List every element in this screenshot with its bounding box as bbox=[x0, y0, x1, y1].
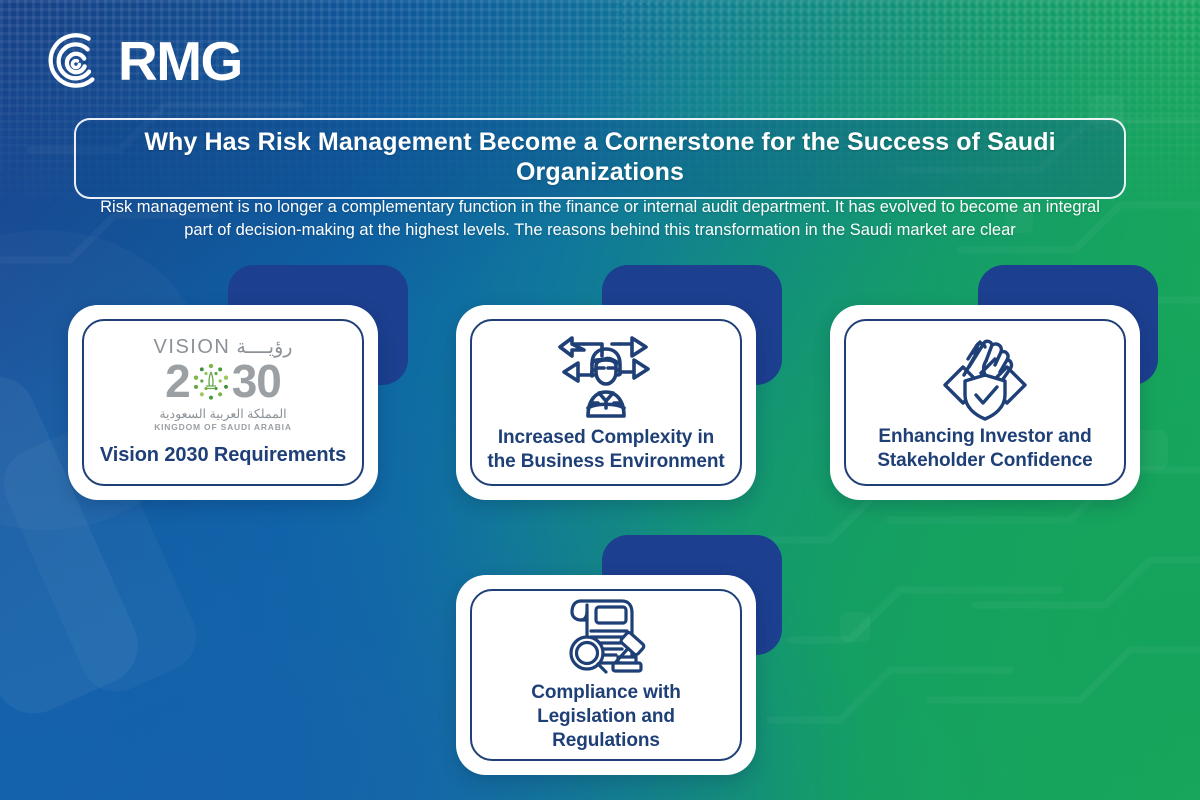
card-surface: VISION رؤيــــة 2 bbox=[68, 305, 378, 500]
page-subtitle: Risk management is no longer a complemen… bbox=[84, 196, 1116, 243]
card-inner-border: Compliance with Legislation and Regulati… bbox=[470, 589, 742, 761]
card-surface: Compliance with Legislation and Regulati… bbox=[456, 575, 756, 775]
card-compliance-regulations[interactable]: Compliance with Legislation and Regulati… bbox=[456, 575, 756, 775]
person-with-arrows-icon bbox=[554, 330, 658, 422]
card-surface: Enhancing Investor and Stakeholder Confi… bbox=[830, 305, 1140, 500]
card-label: Vision 2030 Requirements bbox=[100, 443, 346, 468]
card-surface: Increased Complexity in the Business Env… bbox=[456, 305, 756, 500]
vision-digits-30: 30 bbox=[232, 358, 281, 404]
handshake-shield-check-icon bbox=[937, 331, 1033, 421]
brand-name: RMG bbox=[118, 34, 242, 89]
card-inner-border: VISION رؤيــــة 2 bbox=[82, 319, 364, 486]
card-inner-border: Enhancing Investor and Stakeholder Confi… bbox=[844, 319, 1126, 486]
card-label: Enhancing Investor and Stakeholder Confi… bbox=[860, 425, 1110, 473]
vision-arabic-kingdom: المملكة العربية السعودية bbox=[159, 406, 286, 421]
infographic-canvas: RMG Why Has Risk Management Become a Cor… bbox=[0, 0, 1200, 800]
saudi-palm-emblem-icon bbox=[191, 361, 231, 401]
title-box: Why Has Risk Management Become a Corners… bbox=[74, 118, 1126, 199]
vision-digit-2: 2 bbox=[165, 358, 190, 404]
card-inner-border: Increased Complexity in the Business Env… bbox=[470, 319, 742, 486]
vision-english-kingdom: KINGDOM OF SAUDI ARABIA bbox=[154, 422, 292, 432]
page-title: Why Has Risk Management Become a Corners… bbox=[102, 128, 1098, 187]
card-increased-complexity[interactable]: Increased Complexity in the Business Env… bbox=[456, 305, 756, 500]
card-investor-confidence[interactable]: Enhancing Investor and Stakeholder Confi… bbox=[830, 305, 1140, 500]
scroll-gavel-magnifier-icon bbox=[560, 591, 652, 677]
card-label: Increased Complexity in the Business Env… bbox=[486, 426, 726, 474]
vision-2030-logo-icon: VISION رؤيــــة 2 bbox=[154, 336, 293, 439]
rmg-spiral-icon bbox=[44, 30, 106, 92]
card-vision-2030-requirements[interactable]: VISION رؤيــــة 2 bbox=[68, 305, 378, 500]
brand-header: RMG bbox=[44, 30, 242, 92]
card-label: Compliance with Legislation and Regulati… bbox=[486, 681, 726, 752]
